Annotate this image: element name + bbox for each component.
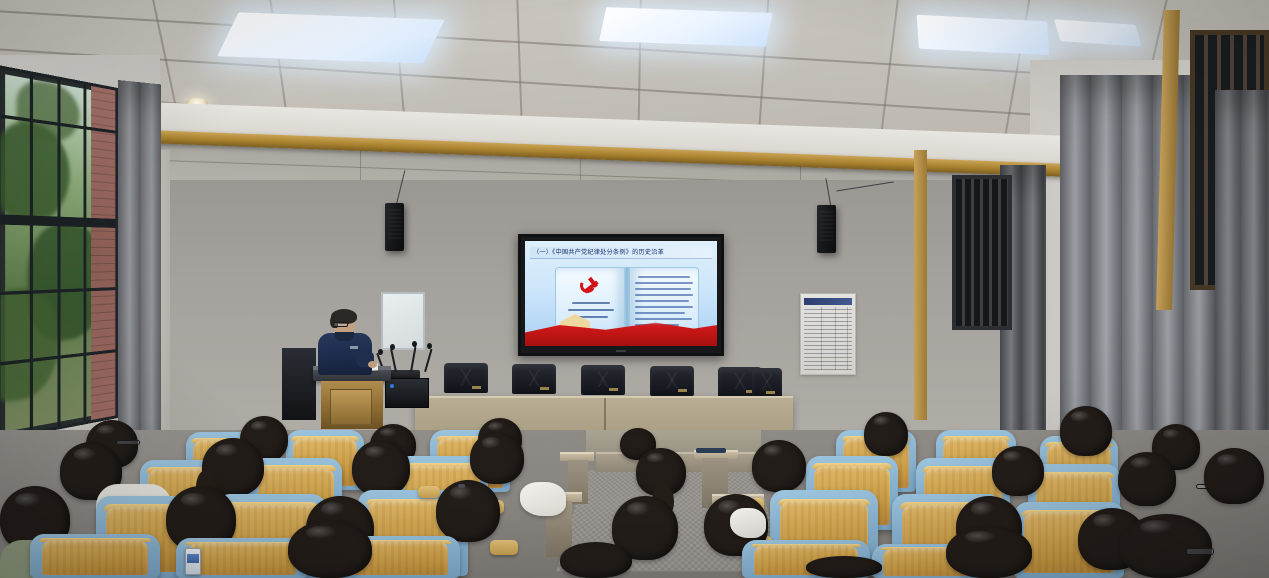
stage-chair[interactable] — [581, 365, 625, 395]
equipment-rack — [282, 348, 316, 420]
armrest — [418, 486, 440, 498]
stage-chair[interactable] — [512, 364, 556, 394]
audience-head — [992, 446, 1044, 496]
status-led — [390, 384, 394, 388]
white-bag — [520, 482, 566, 516]
eyeglasses — [116, 440, 140, 445]
gooseneck-mic-head — [412, 341, 417, 347]
av-equipment-box — [385, 378, 429, 408]
ceiling-led-panel — [217, 12, 445, 63]
right-barred-window — [952, 175, 1012, 330]
podium-front-panel — [330, 389, 372, 425]
display-brand-mark — [616, 350, 626, 352]
poster-header — [804, 298, 852, 305]
left-curtain[interactable] — [118, 80, 161, 435]
presentation-display[interactable]: （一）《中国共产党纪律处分条例》的历史沿革 — [518, 234, 724, 356]
gooseneck-mic-head — [427, 343, 432, 349]
eyeglasses — [1186, 548, 1214, 555]
audience-head — [470, 432, 524, 484]
slide-title: （一）《中国共产党纪律处分条例》的历史沿革 — [533, 247, 664, 259]
presenter-collar — [335, 332, 354, 341]
audience-head — [288, 520, 372, 578]
slide-canvas: （一）《中国共产党纪律处分条例》的历史沿革 — [525, 241, 717, 346]
audience-head — [560, 542, 632, 578]
audience-head — [752, 440, 806, 492]
desk-item — [696, 448, 726, 453]
ceiling-led-panel — [599, 7, 773, 47]
hair-clip — [458, 484, 465, 488]
whiteboard — [381, 292, 425, 350]
audience-head — [946, 526, 1032, 578]
audience-head — [864, 412, 908, 456]
audience-head — [1204, 448, 1264, 504]
brick-column — [91, 86, 115, 420]
door-frame-wood — [914, 150, 927, 420]
wall-schedule-poster — [800, 293, 856, 375]
gooseneck-mic-head — [390, 344, 395, 350]
audience-head — [436, 480, 500, 542]
ceiling-led-panel — [917, 15, 1050, 56]
stage-chair[interactable] — [444, 363, 488, 393]
ceiling-led-panel — [1054, 19, 1142, 47]
hammer-and-sickle-icon — [580, 276, 600, 294]
auditorium-seat[interactable] — [30, 534, 160, 578]
stage-chair[interactable] — [752, 368, 782, 398]
audience-head — [1120, 514, 1212, 578]
gooseneck-mic-head — [378, 349, 383, 355]
left-wall-speaker — [385, 203, 404, 251]
smartphone[interactable] — [185, 548, 201, 575]
lecture-hall-photo: （一）《中国共产党纪律处分条例》的历史沿革 — [0, 0, 1269, 578]
left-window — [0, 65, 118, 441]
audience-head — [1060, 406, 1112, 456]
presenter — [316, 311, 376, 373]
audience-head — [1118, 452, 1176, 506]
presenter-hand — [368, 361, 377, 368]
shirt-logo — [350, 346, 358, 349]
presenter-glasses — [333, 322, 348, 327]
right-wall-speaker — [817, 205, 836, 253]
audience-head — [806, 556, 882, 578]
white-bag — [730, 508, 766, 538]
audience-head — [352, 440, 410, 496]
stage-chair[interactable] — [650, 366, 694, 396]
armrest — [490, 540, 518, 555]
